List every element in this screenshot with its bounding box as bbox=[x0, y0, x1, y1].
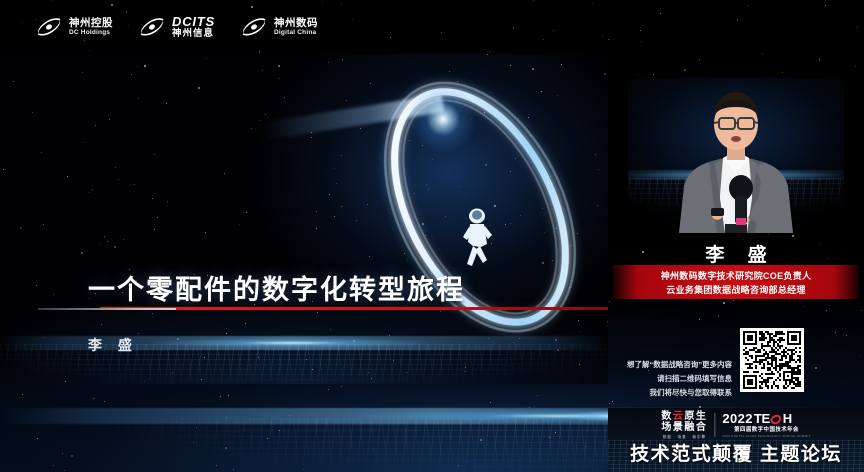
sponsor-logo-label-en: Digital China bbox=[274, 30, 318, 37]
qr-text-line-1: 想了解“数据战略咨询”更多内容 bbox=[620, 358, 732, 372]
sponsor-logo-digital-china: 神州数码 Digital China bbox=[241, 17, 318, 37]
conference-year-tech: 2022TEH bbox=[722, 412, 810, 426]
conference-logo-line-2: 场景融合 bbox=[661, 422, 707, 433]
qr-code-icon[interactable] bbox=[740, 328, 804, 392]
ring-spark-icon bbox=[408, 84, 478, 154]
sponsor-logo-dcits: DCITS 神州信息 bbox=[139, 15, 215, 39]
speaker-title-banner: 神州数码数字技术研究院COE负责人 云业务集团数据战略咨询部总经理 bbox=[613, 265, 859, 299]
conference-logo: 数云原生 场景融合 数据 · 场景 · 新引擎 2022TEH 第四届数字中国技… bbox=[661, 411, 810, 439]
sponsor-logo-bar: 神州控股 DC Holdings DCITS 神州信息 神州数码 bbox=[0, 0, 608, 54]
sponsor-logo-label-cn: 神州信息 bbox=[172, 29, 215, 39]
speaker-person-icon bbox=[661, 84, 811, 233]
video-letterbox-right bbox=[844, 78, 864, 233]
slide-divider-red bbox=[100, 307, 608, 310]
tech-o-icon bbox=[769, 413, 783, 426]
qr-code-matrix bbox=[743, 331, 801, 389]
presentation-slide: 一个零配件的数字化转型旅程 李 盛 bbox=[0, 54, 608, 384]
conference-logo-divider bbox=[714, 413, 715, 437]
swirl-logo-icon bbox=[36, 17, 62, 37]
conference-bottom-bar: 数云原生 场景融合 数据 · 场景 · 新引擎 2022TEH 第四届数字中国技… bbox=[608, 408, 864, 472]
conference-name-cn: 第四届数字中国技术年会 bbox=[722, 428, 810, 434]
qr-text-line-3: 我们将尽快与您取得联系 bbox=[620, 386, 732, 400]
swirl-logo-icon bbox=[241, 17, 267, 37]
broadcast-screen: 神州控股 DC Holdings DCITS 神州信息 神州数码 bbox=[0, 0, 864, 472]
conference-name-en: 2022 DIGITAL CHINA TECHNOLOGY ANNUAL SUM… bbox=[722, 435, 810, 438]
slide-author-name: 李 盛 bbox=[88, 335, 138, 355]
speaker-title-line-2: 云业务集团数据战略咨询部总经理 bbox=[666, 283, 806, 296]
speaker-video-feed[interactable] bbox=[608, 78, 864, 233]
conference-logo-line-1: 数云原生 bbox=[661, 411, 707, 422]
slide-divider-gray bbox=[38, 308, 176, 310]
qr-text-line-2: 请扫描二维码填写信息 bbox=[620, 372, 732, 386]
swirl-logo-icon bbox=[139, 17, 165, 37]
sponsor-logo-label-en: DC Holdings bbox=[69, 30, 113, 37]
session-title: 技术范式颠覆 主题论坛 bbox=[608, 439, 864, 466]
sponsor-logo-dc-holdings: 神州控股 DC Holdings bbox=[36, 17, 113, 37]
video-letterbox-left bbox=[608, 78, 628, 233]
astronaut-figure-icon bbox=[457, 208, 497, 274]
speaker-title-line-1: 神州数码数字技术研究院COE负责人 bbox=[661, 269, 812, 282]
speaker-name: 李 盛 bbox=[608, 240, 864, 267]
sponsor-logo-label-brand: DCITS bbox=[172, 15, 215, 29]
sponsor-logo-label-cn: 神州数码 bbox=[274, 18, 318, 29]
slide-title: 一个零配件的数字化转型旅程 bbox=[88, 268, 465, 307]
qr-instruction-text: 想了解“数据战略咨询”更多内容 请扫描二维码填写信息 我们将尽快与您取得联系 bbox=[620, 358, 732, 400]
sponsor-logo-label-cn: 神州控股 bbox=[69, 18, 113, 29]
